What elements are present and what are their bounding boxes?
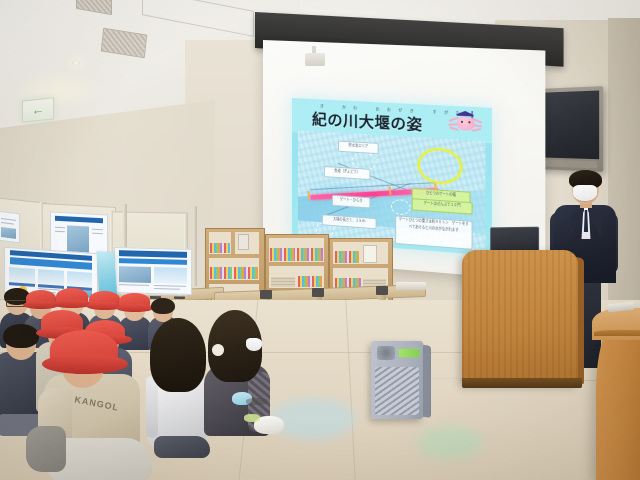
exit-arrow-icon: ← bbox=[28, 103, 48, 117]
floor-item-green bbox=[244, 414, 260, 422]
podium-base bbox=[462, 378, 582, 388]
face-mask-icon bbox=[573, 185, 597, 201]
table-2-item bbox=[396, 282, 426, 290]
child-hair-tie bbox=[212, 344, 224, 356]
child-face-mask-icon bbox=[246, 338, 262, 351]
child-grey-sweater bbox=[196, 310, 278, 442]
podium bbox=[462, 250, 578, 386]
ceiling-downlight-1 bbox=[72, 60, 80, 66]
map-note-box: ゲートひとつの重さは約９０トン ゲートをすべてあけると川の水がながれます bbox=[395, 215, 473, 250]
air-purifier-fan-icon bbox=[377, 346, 395, 360]
map-callout-1: 貯水池エリア bbox=[338, 141, 379, 155]
ceiling-projector[interactable] bbox=[305, 53, 325, 66]
crab-mascot-icon bbox=[447, 107, 483, 138]
air-purifier[interactable] bbox=[371, 341, 423, 419]
floor-reflection-light bbox=[418, 426, 482, 460]
air-purifier-display bbox=[399, 349, 419, 357]
display-board-post bbox=[193, 206, 197, 286]
photo-scene: ← き かわ おおぜき すがた 紀の川大堰の姿 bbox=[0, 0, 640, 480]
emergency-exit-sign: ← bbox=[22, 97, 54, 122]
counter-edge bbox=[594, 330, 640, 336]
map-callout-2: 魚道（ぎょどう） bbox=[324, 166, 371, 180]
air-purifier-grille bbox=[375, 367, 419, 415]
floor-reflection-screen bbox=[270, 398, 356, 440]
yellow-highlight-circle bbox=[418, 147, 462, 185]
floor-item-dark bbox=[246, 398, 268, 405]
crab-body bbox=[457, 116, 475, 130]
wall-sheet-small bbox=[0, 211, 20, 244]
poster-3 bbox=[114, 247, 192, 295]
